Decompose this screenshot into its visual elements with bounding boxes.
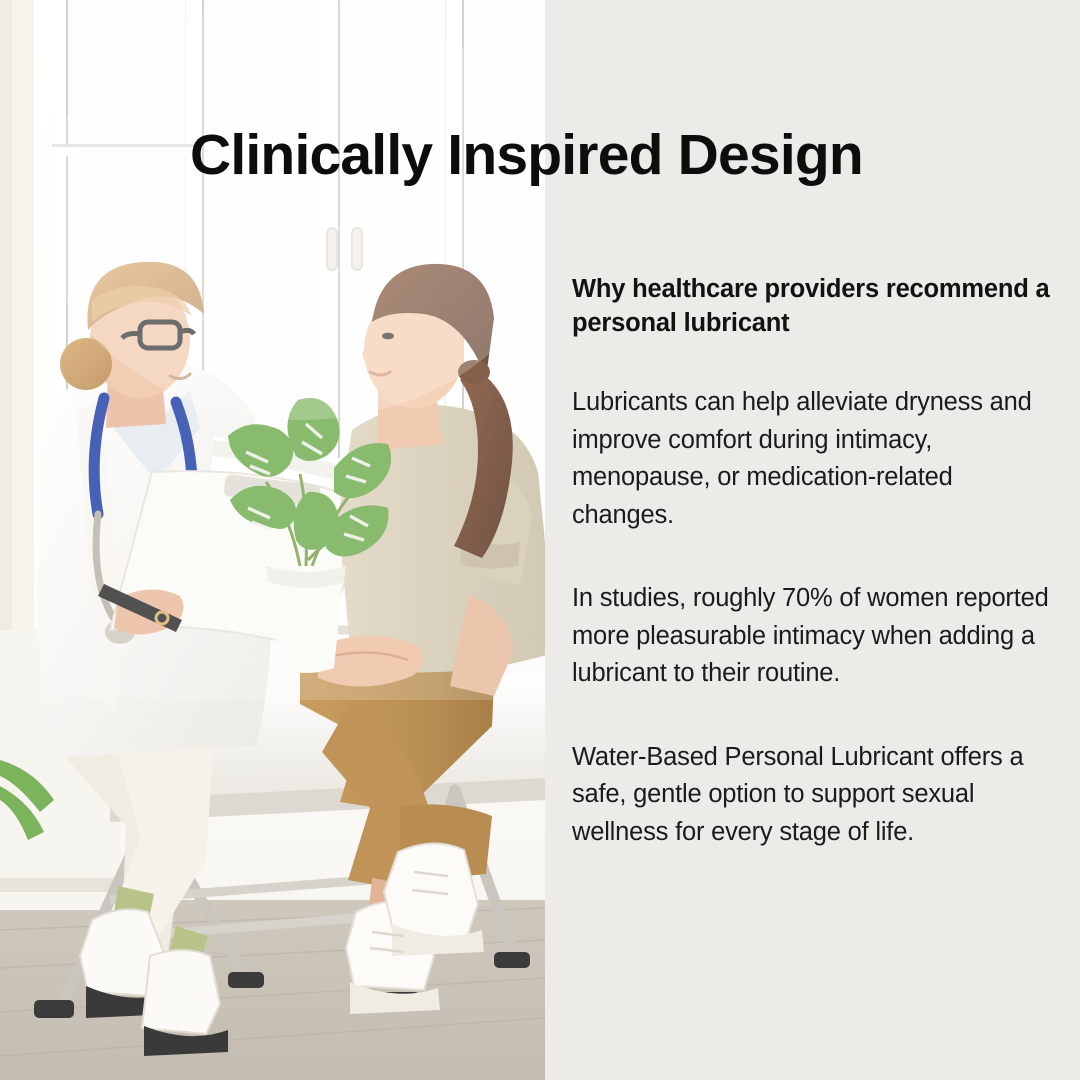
promo-card: Clinically Inspired Design Why healthcar… [0,0,1080,1080]
copy-column: Why healthcare providers recommend a per… [572,272,1052,851]
page-title: Clinically Inspired Design [190,126,970,184]
copy-paragraph-2: In studies, roughly 70% of women reporte… [572,580,1052,692]
copy-paragraph-1: Lubricants can help alleviate dryness an… [572,384,1052,534]
copy-paragraph-3: Water-Based Personal Lubricant offers a … [572,739,1052,851]
copy-subheading: Why healthcare providers recommend a per… [572,272,1052,340]
